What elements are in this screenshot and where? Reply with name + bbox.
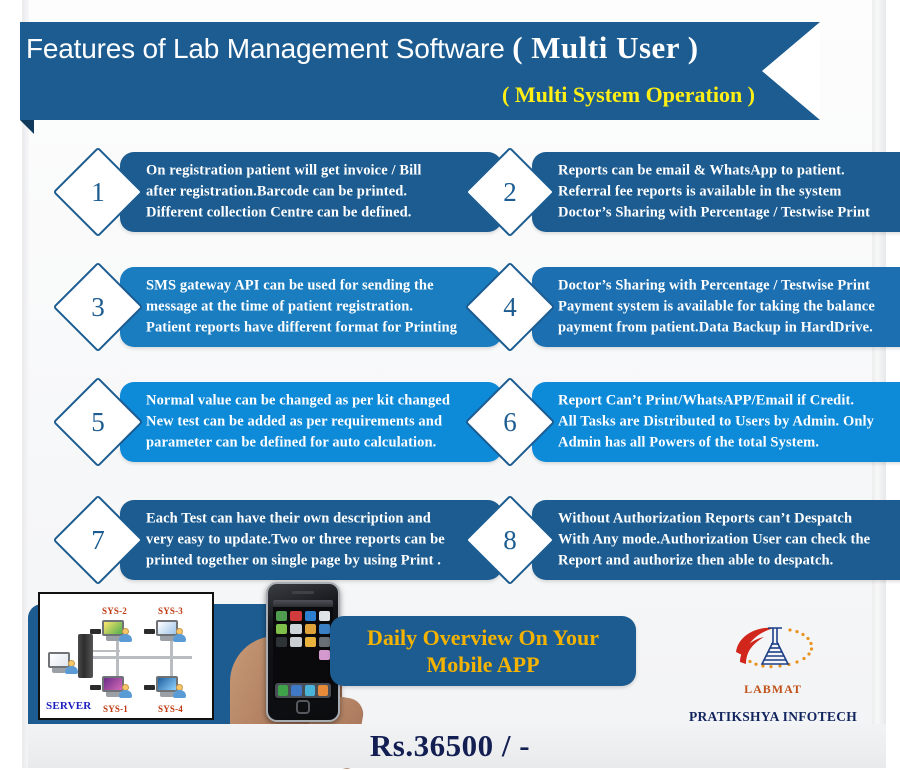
mobile-app-banner-text: Daily Overview On Your Mobile APP <box>367 624 599 679</box>
network-diagram: SERVER SYS-2 SYS-3 SYS-1 <box>38 592 214 720</box>
network-label-server: SERVER <box>46 700 91 712</box>
server-tower-icon <box>78 634 93 678</box>
phone-app-grid <box>273 607 333 664</box>
mobile-app-banner: Daily Overview On Your Mobile APP <box>330 616 636 686</box>
phone-dock <box>275 683 331 698</box>
phone-statusbar <box>273 600 333 607</box>
feature-number-7: 7 <box>66 508 130 572</box>
network-label-sys2: SYS-2 <box>102 606 127 616</box>
page-title-main: Features of Lab Management Software <box>26 33 505 64</box>
page-title: Features of Lab Management Software ( Mu… <box>26 30 699 66</box>
flask-logo-icon <box>678 618 868 686</box>
feature-number-2: 2 <box>478 160 542 224</box>
feature-number-4: 4 <box>478 275 542 339</box>
feature-number-1: 1 <box>66 160 130 224</box>
feature-number-3: 3 <box>66 275 130 339</box>
feature-item-6: Report Can’t Print/WhatsAPP/Email if Cre… <box>474 376 900 468</box>
feature-item-2: Reports can be email & WhatsApp to patie… <box>474 146 900 238</box>
network-label-sys3: SYS-3 <box>158 606 183 616</box>
feature-text-7: Each Test can have their own description… <box>146 509 445 572</box>
page-title-emphasis: ( Multi User ) <box>512 30 698 65</box>
feature-item-5: Normal value can be changed as per kit c… <box>62 376 502 468</box>
feature-text-3: SMS gateway API can be used for sending … <box>146 276 457 339</box>
network-label-sys1: SYS-1 <box>103 704 128 714</box>
feature-text-4: Doctor’s Sharing with Percentage / Testw… <box>558 276 875 339</box>
feature-text-1: On registration patient will get invoice… <box>146 161 421 224</box>
feature-item-4: Doctor’s Sharing with Percentage / Testw… <box>474 261 900 353</box>
network-label-sys4: SYS-4 <box>158 704 183 714</box>
feature-number-5: 5 <box>66 390 130 454</box>
network-wire-bus <box>84 656 192 659</box>
feature-number-6: 6 <box>478 390 542 454</box>
feature-item-1: On registration patient will get invoice… <box>62 146 502 238</box>
feature-text-8: Without Authorization Reports can’t Desp… <box>558 509 870 572</box>
page-subtitle: ( Multi System Operation ) <box>0 82 755 108</box>
feature-text-5: Normal value can be changed as per kit c… <box>146 391 450 454</box>
feature-text-2: Reports can be email & WhatsApp to patie… <box>558 161 870 224</box>
infographic-page: Features of Lab Management Software ( Mu… <box>0 0 900 768</box>
feature-item-8: Without Authorization Reports can’t Desp… <box>474 494 900 586</box>
price-label: Rs.36500 / - <box>0 728 900 764</box>
feature-item-3: SMS gateway API can be used for sending … <box>62 261 502 353</box>
smartphone-image <box>266 582 340 722</box>
phone-screen <box>273 600 333 700</box>
feature-number-8: 8 <box>478 508 542 572</box>
phone-home-button-icon <box>296 700 310 714</box>
feature-item-7: Each Test can have their own description… <box>62 494 502 586</box>
feature-text-6: Report Can’t Print/WhatsAPP/Email if Cre… <box>558 391 874 454</box>
brand-block: LABMAT PRATIKSHYA INFOTECH <box>678 618 868 725</box>
company-name: PRATIKSHYA INFOTECH <box>678 709 868 725</box>
phone-speaker-icon <box>292 591 314 594</box>
